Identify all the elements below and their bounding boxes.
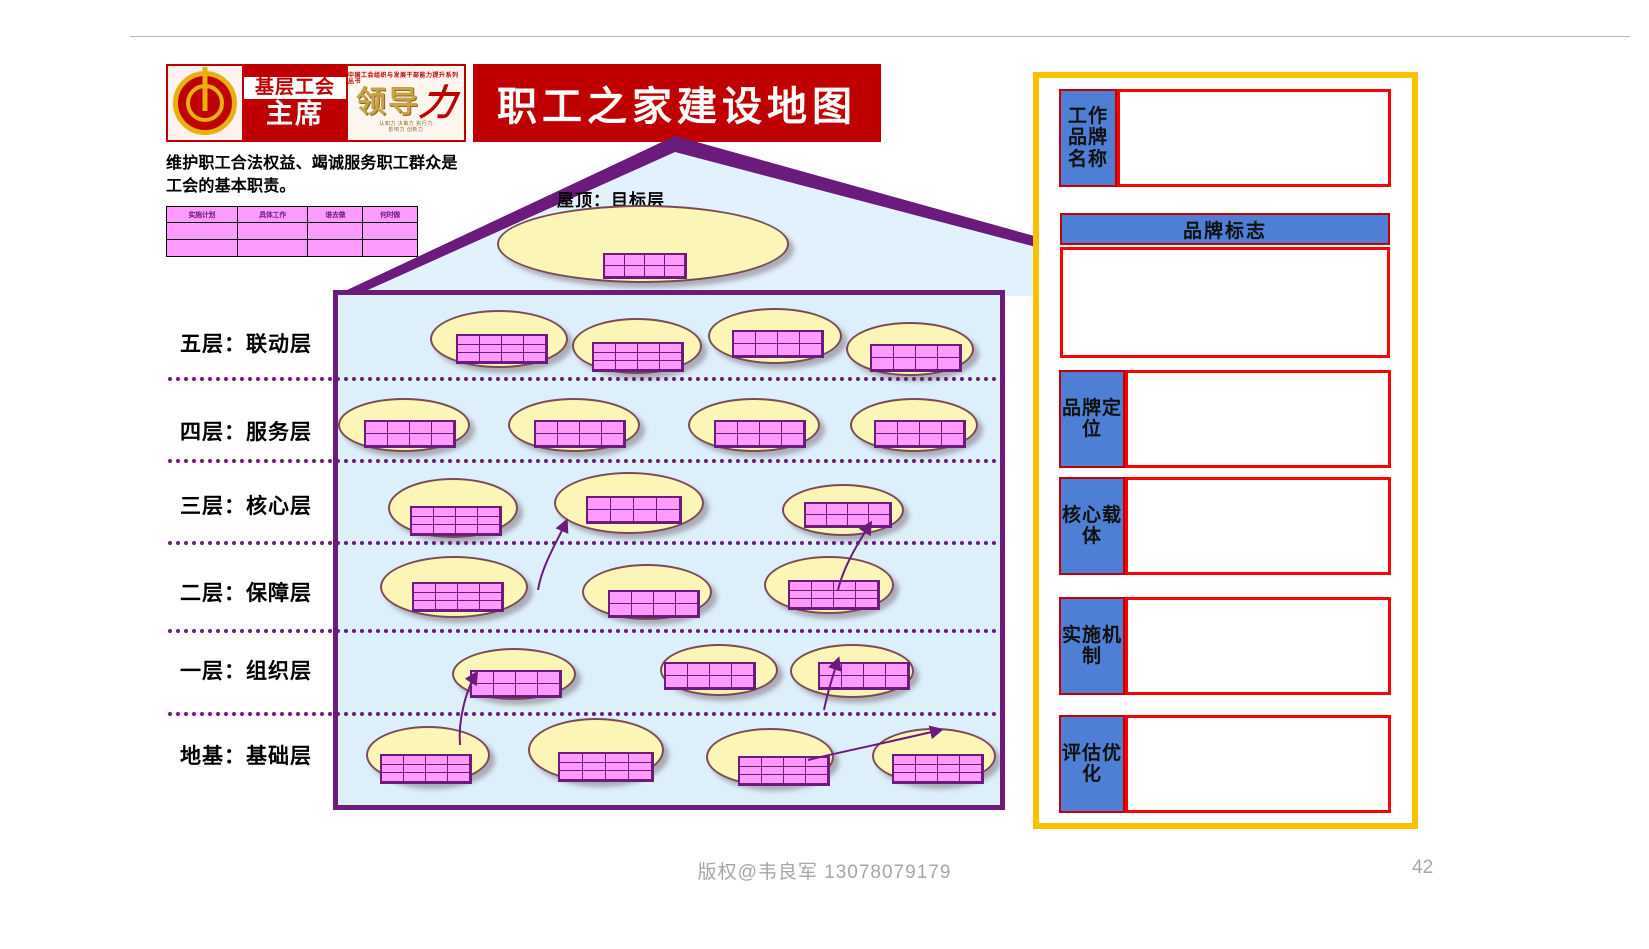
node-grid bbox=[456, 334, 548, 364]
top-divider bbox=[130, 36, 1630, 37]
node-grid bbox=[870, 344, 962, 372]
slide-root: 基层工会 主席 中国工会组织与发展干部能力提升系列丛书 领 导 力 认知力 决策… bbox=[0, 0, 1649, 949]
mini-table-cell[interactable] bbox=[167, 240, 238, 257]
layer-label-5: 五层：联动层 bbox=[180, 328, 312, 358]
panel-input-implementation[interactable] bbox=[1125, 597, 1391, 695]
union-emblem-icon bbox=[168, 66, 244, 140]
node-grid bbox=[470, 670, 562, 698]
plan-mini-table: 实施计划具体工作谁去做何时做 bbox=[166, 206, 418, 257]
node-grid bbox=[738, 756, 830, 786]
mini-table-header-cell: 谁去做 bbox=[308, 207, 363, 223]
page-title-banner: 职工之家建设地图 bbox=[473, 64, 881, 142]
mini-table-header-row: 实施计划具体工作谁去做何时做 bbox=[167, 207, 418, 223]
node-grid bbox=[874, 420, 966, 448]
node-grid bbox=[714, 420, 806, 448]
node-grid bbox=[818, 662, 910, 690]
panel-row-brand-position: 品牌定位 bbox=[1059, 370, 1391, 468]
panel-row-implementation: 实施机制 bbox=[1059, 597, 1391, 695]
layer-label-4: 四层：服务层 bbox=[180, 416, 312, 446]
node-grid bbox=[664, 662, 756, 690]
mini-table-row bbox=[167, 223, 418, 240]
logo-line-1: 基层工会 bbox=[244, 77, 346, 99]
panel-label-core-carrier: 核心载体 bbox=[1059, 477, 1125, 575]
lead-char-2: 导 bbox=[388, 88, 418, 118]
mini-table-cell[interactable] bbox=[308, 223, 363, 240]
mini-table-cell[interactable] bbox=[237, 240, 308, 257]
lead-keywords-2: 影响力 创新力 bbox=[389, 127, 424, 134]
panel-label-evaluation: 评估优化 bbox=[1059, 715, 1125, 813]
layer-divider-5 bbox=[168, 712, 1005, 716]
node-grid bbox=[410, 506, 502, 536]
panel-input-evaluation[interactable] bbox=[1125, 715, 1391, 813]
node-grid bbox=[804, 502, 892, 528]
layer-divider-4 bbox=[168, 629, 1005, 633]
mini-table-cell[interactable] bbox=[167, 223, 238, 240]
logo-title-block: 基层工会 主席 bbox=[244, 66, 348, 140]
node-grid bbox=[592, 342, 684, 372]
panel-row-core-carrier: 核心载体 bbox=[1059, 477, 1391, 575]
book-logo-strip: 基层工会 主席 中国工会组织与发展干部能力提升系列丛书 领 导 力 认知力 决策… bbox=[166, 64, 466, 142]
layer-divider-1 bbox=[168, 377, 1005, 381]
node-grid bbox=[534, 420, 626, 448]
panel-input-brand-position[interactable] bbox=[1125, 370, 1391, 468]
layer-label-1: 一层：组织层 bbox=[180, 655, 312, 685]
mini-table-row bbox=[167, 240, 418, 257]
layer-divider-3 bbox=[168, 541, 1005, 545]
leadership-logo-block: 中国工会组织与发展干部能力提升系列丛书 领 导 力 认知力 决策力 执行力 影响… bbox=[348, 66, 464, 140]
mini-table-cell[interactable] bbox=[363, 240, 418, 257]
mini-table-cell[interactable] bbox=[363, 223, 418, 240]
mini-table-header-cell: 实施计划 bbox=[167, 207, 238, 223]
node-grid bbox=[732, 330, 824, 358]
layer-label-3: 三层：核心层 bbox=[180, 490, 312, 520]
layer-label-2: 二层：保障层 bbox=[180, 577, 312, 607]
logo-line-2: 主席 bbox=[266, 99, 324, 130]
panel-input-core-carrier[interactable] bbox=[1125, 477, 1391, 575]
panel-row-evaluation: 评估优化 bbox=[1059, 715, 1391, 813]
layer-divider-2 bbox=[168, 459, 1005, 463]
panel-label-implementation: 实施机制 bbox=[1059, 597, 1125, 695]
node-grid bbox=[608, 590, 700, 618]
panel-label-brand-name: 工作品牌名称 bbox=[1059, 89, 1117, 187]
roof-node bbox=[497, 205, 789, 287]
lead-char-3: 力 bbox=[417, 85, 458, 121]
panel-banner-brand-logo: 品牌标志 bbox=[1060, 213, 1390, 245]
node-grid bbox=[603, 253, 687, 279]
page-title: 职工之家建设地图 bbox=[497, 74, 857, 132]
node-grid bbox=[558, 752, 654, 782]
node-grid bbox=[586, 496, 682, 524]
panel-row-brand-name: 工作品牌名称 bbox=[1059, 89, 1391, 187]
slogan-text: 维护职工合法权益、竭诚服务职工群众是工会的基本职责。 bbox=[166, 152, 466, 198]
panel-input-brand-name[interactable] bbox=[1117, 89, 1391, 187]
mini-table-cell[interactable] bbox=[308, 240, 363, 257]
lead-char-1: 领 bbox=[356, 88, 386, 118]
mini-table-header-cell: 具体工作 bbox=[237, 207, 308, 223]
mini-table-cell[interactable] bbox=[237, 223, 308, 240]
node-grid bbox=[412, 582, 504, 612]
copyright-footer: 版权@韦良军 13078079179 bbox=[0, 857, 1649, 884]
node-grid bbox=[364, 420, 456, 448]
panel-label-brand-position: 品牌定位 bbox=[1059, 370, 1125, 468]
page-number: 42 bbox=[1412, 857, 1433, 879]
node-grid bbox=[380, 754, 472, 784]
mini-table-header-cell: 何时做 bbox=[363, 207, 418, 223]
layer-label-0: 地基：基础层 bbox=[180, 740, 312, 770]
panel-input-brand-logo[interactable] bbox=[1060, 247, 1390, 358]
node-grid bbox=[892, 754, 984, 784]
node-grid bbox=[788, 580, 880, 610]
